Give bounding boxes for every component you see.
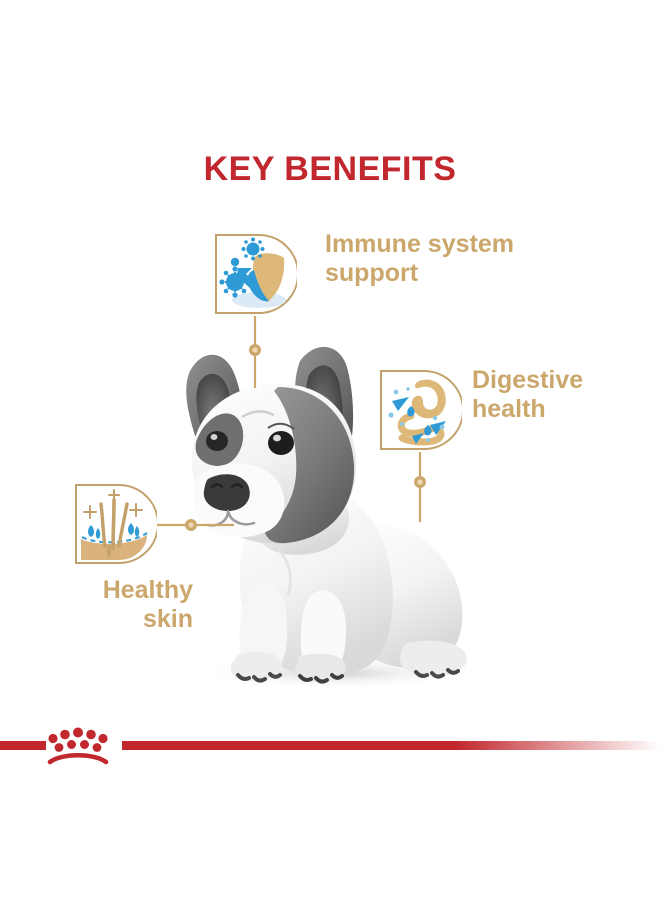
- benefit-healthy-skin: Healthy skin: [73, 482, 273, 642]
- poster-canvas: KEY BENEFITS: [0, 0, 660, 900]
- benefit-immune-system-support: Immune system support: [213, 232, 613, 332]
- benefit-digestive-health: Digestive health: [378, 368, 660, 468]
- page-title: KEY BENEFITS: [0, 152, 660, 186]
- benefit-label-skin: Healthy skin: [43, 576, 193, 634]
- shield-virus-icon: [213, 232, 297, 316]
- stomach-intestine-icon: [378, 368, 462, 452]
- benefit-label-immune: Immune system support: [325, 230, 615, 288]
- skin-follicle-icon: [73, 482, 157, 566]
- royal-canin-crown-icon: [48, 728, 107, 752]
- brand-footer: [0, 725, 660, 785]
- benefit-label-digestive: Digestive health: [472, 366, 660, 424]
